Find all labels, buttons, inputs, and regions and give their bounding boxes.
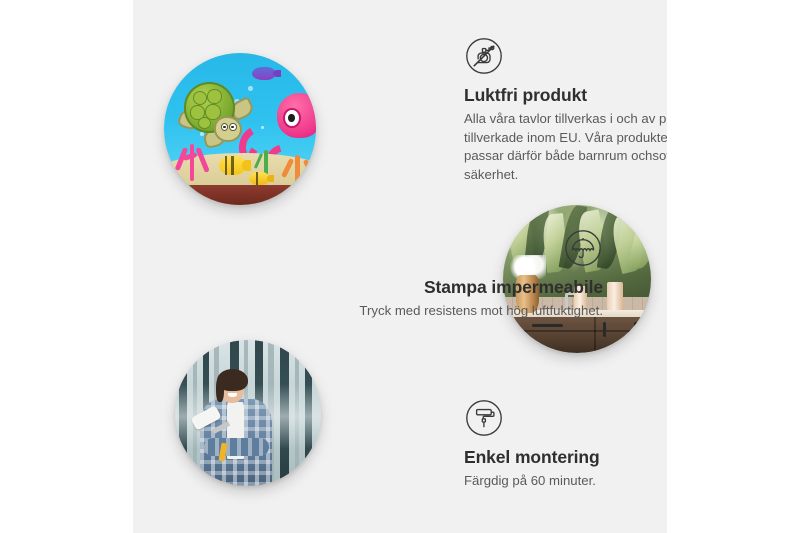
underwater-cartoon-circle-image xyxy=(164,53,316,205)
feature-description: Alla våra tavlor tillverkas i och av pro… xyxy=(464,110,667,185)
paint-roller-icon xyxy=(464,398,667,438)
feature-title: Luktfri produkt xyxy=(464,85,667,106)
small-yellow-fish xyxy=(249,172,269,186)
bottle-right xyxy=(607,282,623,310)
coral-orange xyxy=(283,150,313,186)
forest-artwork xyxy=(175,340,321,486)
woman-paint-roller-forest-circle-image xyxy=(175,340,321,486)
feature-block-waterproof-print: Stampa impermeabile Tryck med resistens … xyxy=(283,228,603,321)
umbrella-icon xyxy=(283,228,603,268)
woman-art xyxy=(195,372,277,486)
no-odour-perfume-icon xyxy=(464,36,667,76)
yellow-fish xyxy=(219,156,245,174)
page-root: Luktfri produkt Alla våra tavlor tillver… xyxy=(0,0,800,533)
feature-title: Enkel montering xyxy=(464,447,667,468)
feature-description: Tryck med resistens mot hög luftfuktighe… xyxy=(283,302,603,321)
coral-pink xyxy=(173,135,213,181)
content-panel: Luktfri produkt Alla våra tavlor tillver… xyxy=(133,0,667,533)
vanity-cabinet xyxy=(512,317,651,353)
feature-title: Stampa impermeabile xyxy=(283,277,603,298)
underwater-artwork xyxy=(164,53,316,205)
feature-block-odour-free: Luktfri produkt Alla våra tavlor tillver… xyxy=(464,36,667,185)
feature-description: Färgdig på 60 minuter. xyxy=(464,472,667,491)
feature-block-easy-assembly: Enkel montering Färgdig på 60 minuter. xyxy=(464,398,667,491)
